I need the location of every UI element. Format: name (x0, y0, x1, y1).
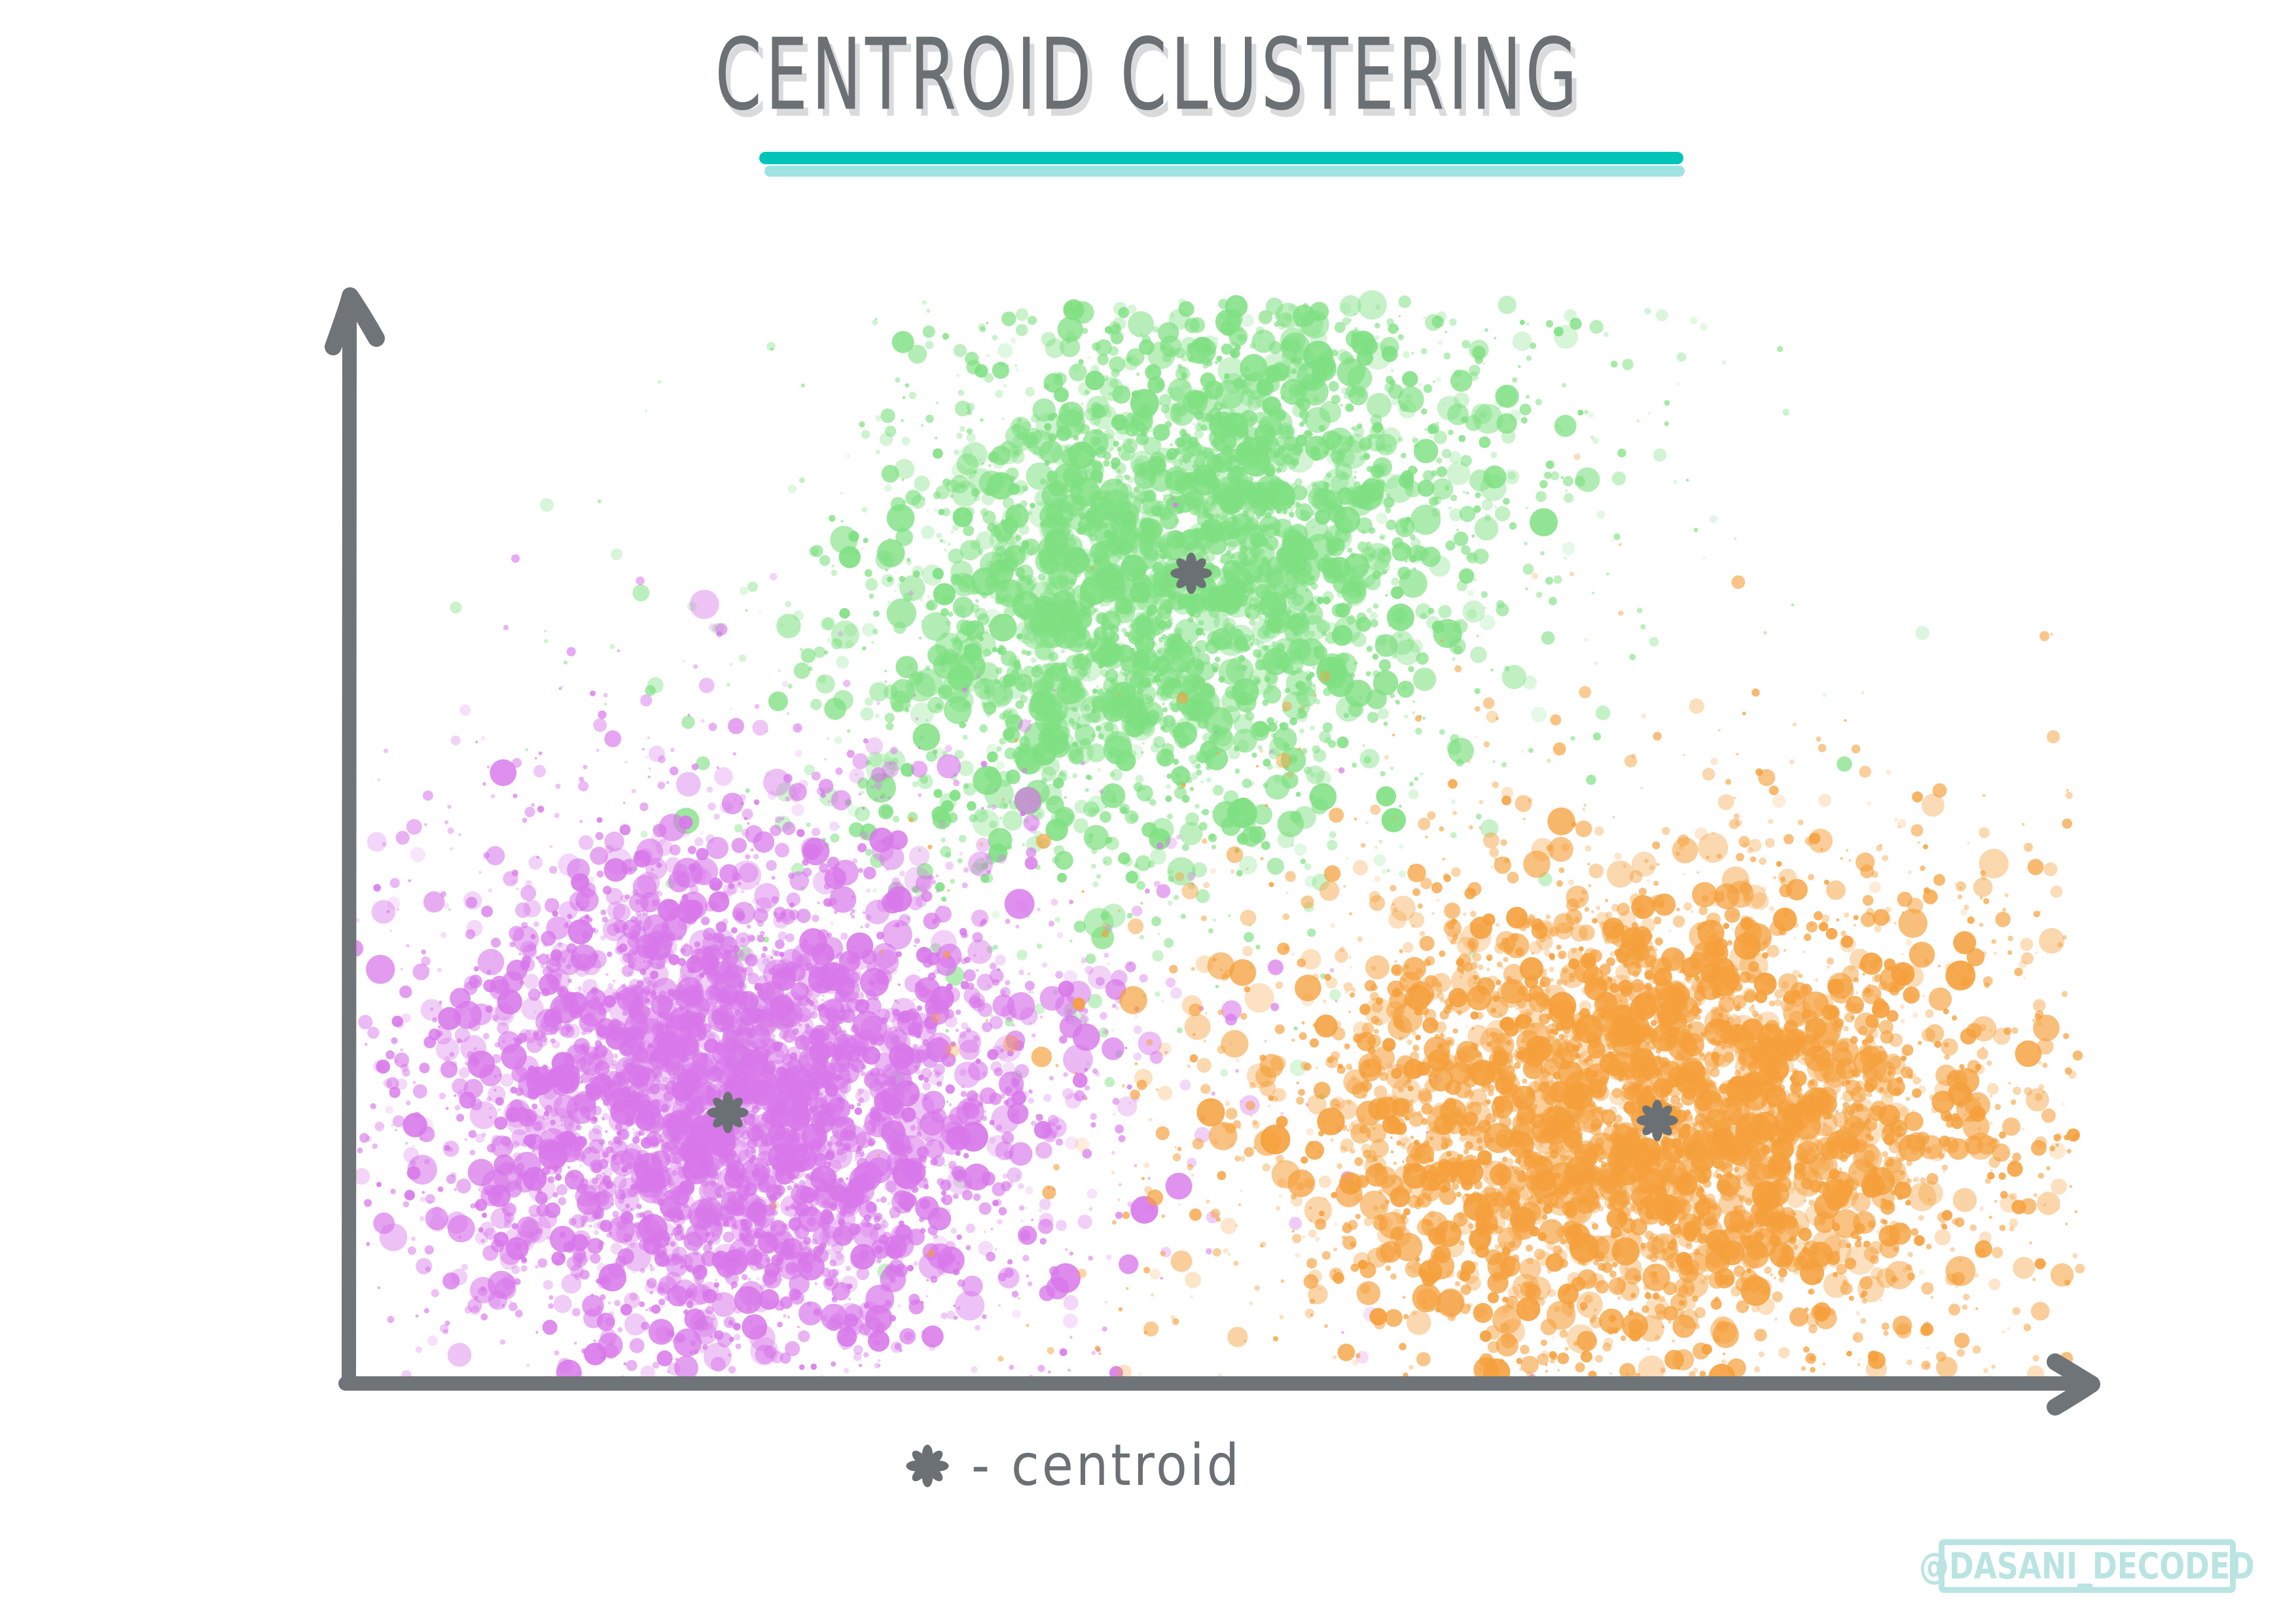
title-underline-shadow (764, 166, 1685, 177)
watermark: @DASANI_DECODED (1939, 1539, 2236, 1593)
watermark-text: @DASANI_DECODED (1920, 1545, 2255, 1587)
title-underline-main (759, 152, 1683, 164)
asterisk-icon (903, 1442, 952, 1490)
scatter-clusters-layer (346, 291, 2085, 1391)
y-axis-line (349, 314, 350, 1381)
legend: - centroid (903, 1436, 1242, 1495)
clustering-figure (0, 0, 2296, 1623)
legend-label: - centroid (971, 1433, 1242, 1499)
title-underline (759, 152, 1683, 178)
